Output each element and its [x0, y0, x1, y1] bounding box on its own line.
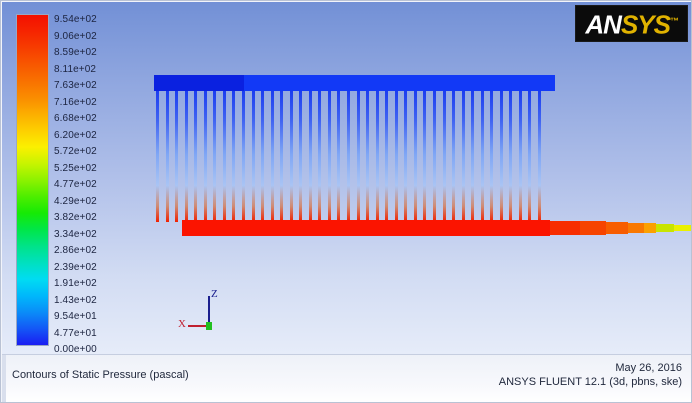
tube	[366, 91, 369, 222]
tube	[299, 91, 302, 222]
footer-left-cap	[2, 355, 6, 403]
tube	[471, 91, 474, 222]
tube	[232, 91, 235, 222]
tube	[328, 91, 331, 222]
tube	[261, 91, 264, 222]
tube	[528, 91, 531, 222]
tube	[452, 91, 455, 222]
tube	[318, 91, 321, 222]
tube	[166, 91, 169, 222]
tube	[347, 91, 350, 222]
axis-triad: Z X	[180, 292, 240, 338]
tube	[385, 91, 388, 222]
heat-exchanger-contour-geometry	[2, 2, 692, 354]
base-manifold	[182, 220, 512, 236]
tube	[204, 91, 207, 222]
header-manifold-left	[154, 75, 244, 91]
tube	[280, 91, 283, 222]
tube	[490, 91, 493, 222]
graphics-viewport[interactable]: ANSYS™ 9.54e+029.06e+028.59e+028.11e+027…	[2, 2, 692, 354]
tube	[414, 91, 417, 222]
outlet-taper-segment	[656, 224, 674, 232]
tube	[423, 91, 426, 222]
tube	[404, 91, 407, 222]
outlet-taper-segment	[550, 221, 580, 236]
tube	[443, 91, 446, 222]
outlet-taper-segment	[674, 225, 692, 232]
tube	[156, 91, 159, 222]
x-axis-label: X	[178, 318, 186, 330]
tube	[395, 91, 398, 222]
tube	[433, 91, 436, 222]
tube	[357, 91, 360, 222]
tube	[538, 91, 541, 222]
tube	[462, 91, 465, 222]
outlet-taper-segment	[580, 221, 606, 234]
tube	[252, 91, 255, 222]
outlet-taper-segment	[644, 223, 656, 233]
tube	[213, 91, 216, 222]
tube	[337, 91, 340, 222]
tube	[271, 91, 274, 222]
plot-date: May 26, 2016	[499, 361, 682, 375]
outlet-taper-segment	[628, 223, 644, 234]
outlet-taper-segment	[512, 220, 550, 236]
tube	[309, 91, 312, 222]
triad-origin-marker	[206, 322, 212, 330]
tube	[242, 91, 245, 222]
ansys-fluent-graphics-window: ANSYS™ 9.54e+029.06e+028.59e+028.11e+027…	[0, 0, 692, 403]
tube	[175, 91, 178, 222]
header-manifold-right	[244, 75, 555, 91]
tube	[500, 91, 503, 222]
plot-caption: Contours of Static Pressure (pascal)	[12, 369, 189, 381]
graphics-footer: Contours of Static Pressure (pascal) May…	[2, 354, 692, 403]
tube	[290, 91, 293, 222]
tube	[519, 91, 522, 222]
tube	[481, 91, 484, 222]
z-axis-label: Z	[211, 288, 218, 300]
tube	[376, 91, 379, 222]
tube	[223, 91, 226, 222]
plot-solver-info: ANSYS FLUENT 12.1 (3d, pbns, ske)	[499, 375, 682, 389]
tube	[194, 91, 197, 222]
outlet-taper-segment	[606, 222, 628, 234]
plot-stamp: May 26, 2016 ANSYS FLUENT 12.1 (3d, pbns…	[499, 361, 682, 389]
tube	[185, 91, 188, 222]
tube	[509, 91, 512, 222]
